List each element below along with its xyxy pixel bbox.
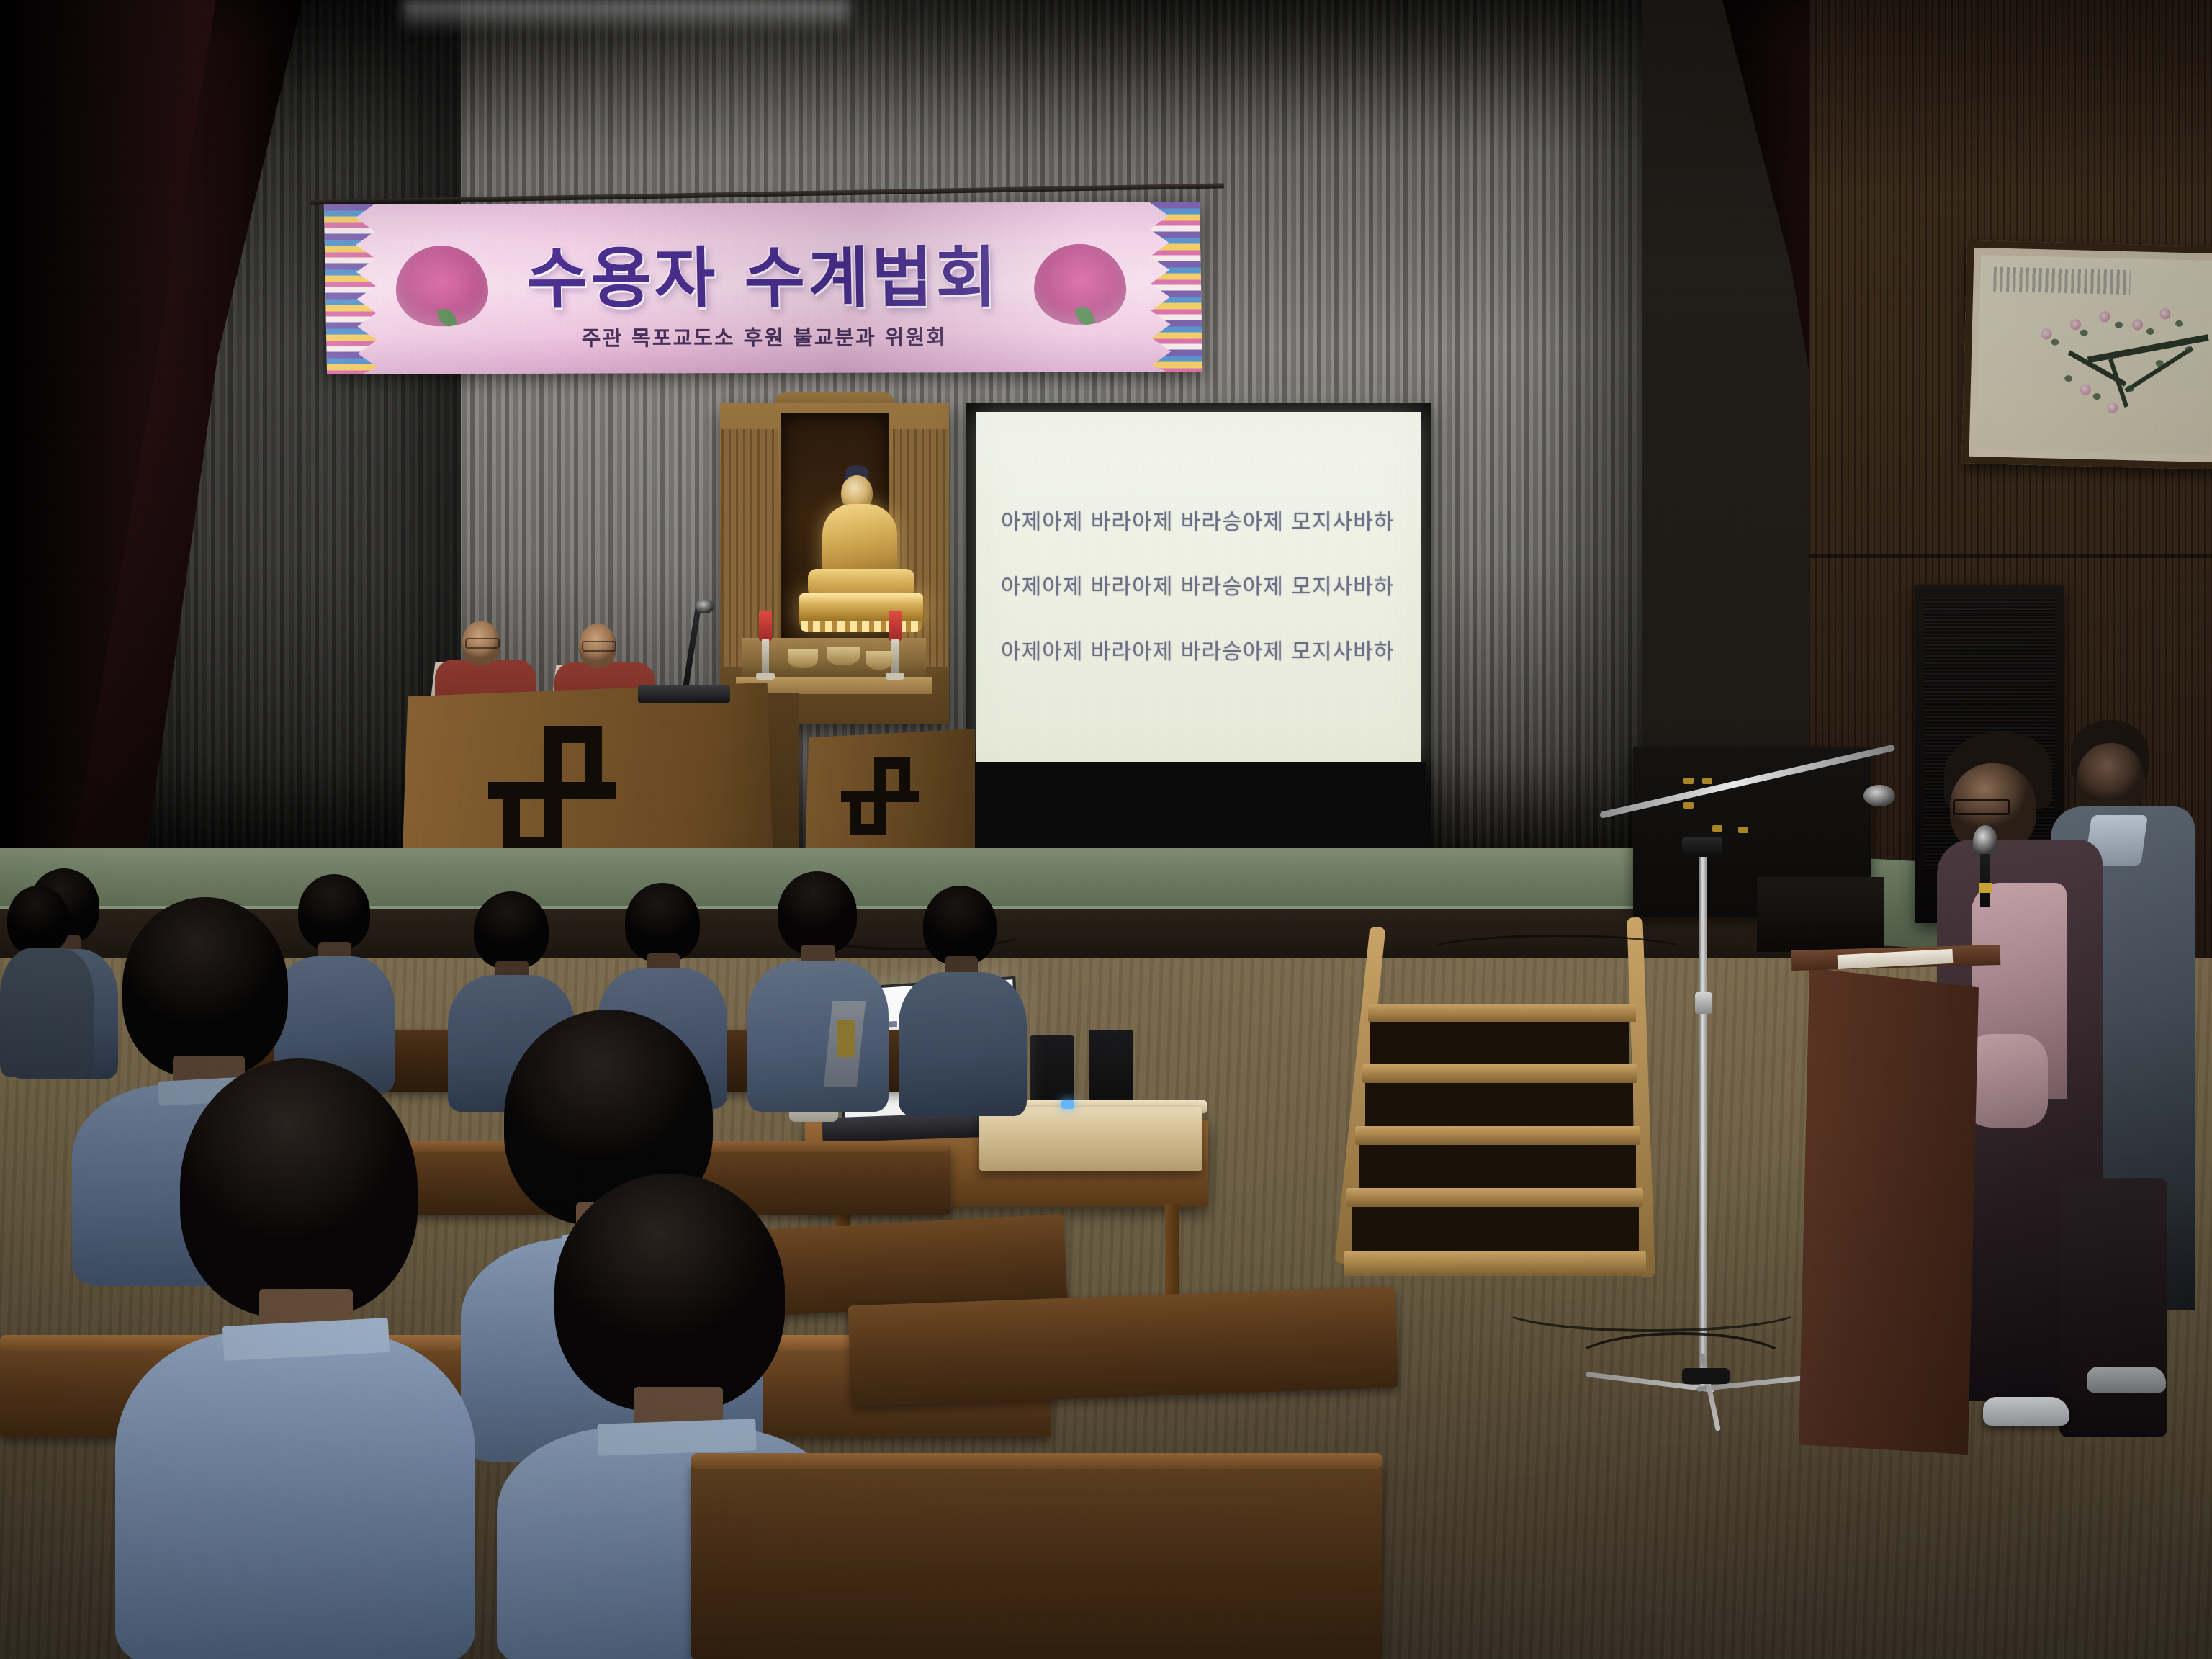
mantra-line-2: 아제아제 바라아제 바라승아제 모지사바하 <box>1001 569 1406 601</box>
audience-member-5 <box>747 871 889 1109</box>
audience-member-6 <box>899 886 1027 1116</box>
lectern-mic-head <box>696 599 714 613</box>
wood-panel-seam <box>1809 554 2212 558</box>
stair-step-3 <box>1362 1064 1637 1083</box>
mantra-line-3: 아제아제 바라아제 바라승아제 모지사바하 <box>1001 634 1406 665</box>
projector-body <box>979 1107 1202 1171</box>
banner-subtitle: 주관 목포교도소 후원 불교분과 위원회 <box>326 320 1202 352</box>
boom-mic-head[interactable] <box>1863 785 1895 806</box>
candlestick-right <box>889 611 907 683</box>
candlestick-left <box>759 611 778 683</box>
av-table-leg-right <box>1165 1204 1179 1305</box>
offering-bowl-2 <box>827 647 860 665</box>
stage-monitor-speaker <box>1757 877 1884 952</box>
banner-title: 수용자 수계법회 <box>324 223 1202 321</box>
pew-row-front-bottom <box>691 1462 1382 1659</box>
speaker-shoe-left <box>1983 1397 2069 1426</box>
mic-boom-clamp[interactable] <box>1682 837 1722 855</box>
lectern-equipment <box>638 685 730 703</box>
pew-row-front-right-2 <box>848 1287 1398 1406</box>
speaker-shoe-right <box>2087 1367 2166 1393</box>
uniform-badge <box>837 1020 855 1057</box>
mantra-line-1: 아제아제 바라아제 바라승아제 모지사바하 <box>1001 504 1406 536</box>
floor-cable-2 <box>1498 1283 1806 1332</box>
handheld-mic-body[interactable] <box>1980 854 1990 907</box>
event-banner: 수용자 수계법회 주관 목포교도소 후원 불교분과 위원회 <box>324 202 1202 374</box>
handheld-mic-ring <box>1979 883 1992 893</box>
glasses-icon <box>1953 799 2010 815</box>
floor-cable-1 <box>1570 1332 1791 1395</box>
manji-icon-secondary <box>841 757 919 835</box>
stage-cable <box>1426 935 1689 968</box>
manji-icon <box>488 726 616 854</box>
speaker-podium <box>1799 958 1979 1455</box>
handheld-mic-head[interactable] <box>1973 825 1997 857</box>
framed-plum-painting <box>1961 240 2212 470</box>
offering-bowl-3 <box>866 651 893 670</box>
mic-stand-height-collar[interactable] <box>1695 992 1712 1014</box>
audience-member-9-foreground <box>115 1058 475 1659</box>
stair-step-2 <box>1355 1126 1640 1145</box>
speaker-trousers <box>2059 1178 2167 1437</box>
offering-bowl-1 <box>788 649 818 668</box>
painting-paper <box>1977 255 2212 455</box>
audience-member-11 <box>0 886 94 1073</box>
projection-screen-surface: 아제아제 바라아제 바라승아제 모지사바하 아제아제 바라아제 바라승아제 모지… <box>976 412 1421 765</box>
projector-power-led-icon <box>1061 1100 1074 1109</box>
pew-row-front-bottom-top <box>691 1453 1382 1469</box>
stair-base <box>1344 1251 1646 1276</box>
stage-stairs <box>1336 913 1675 1302</box>
stair-step-4 <box>1368 1004 1636 1022</box>
auditorium-scene: 수용자 수계법회 주관 목포교도소 후원 불교분과 위원회 아제아제 바라아제 … <box>0 0 2212 1659</box>
stair-step-1 <box>1346 1188 1643 1207</box>
painting-calligraphy <box>1993 267 2131 295</box>
